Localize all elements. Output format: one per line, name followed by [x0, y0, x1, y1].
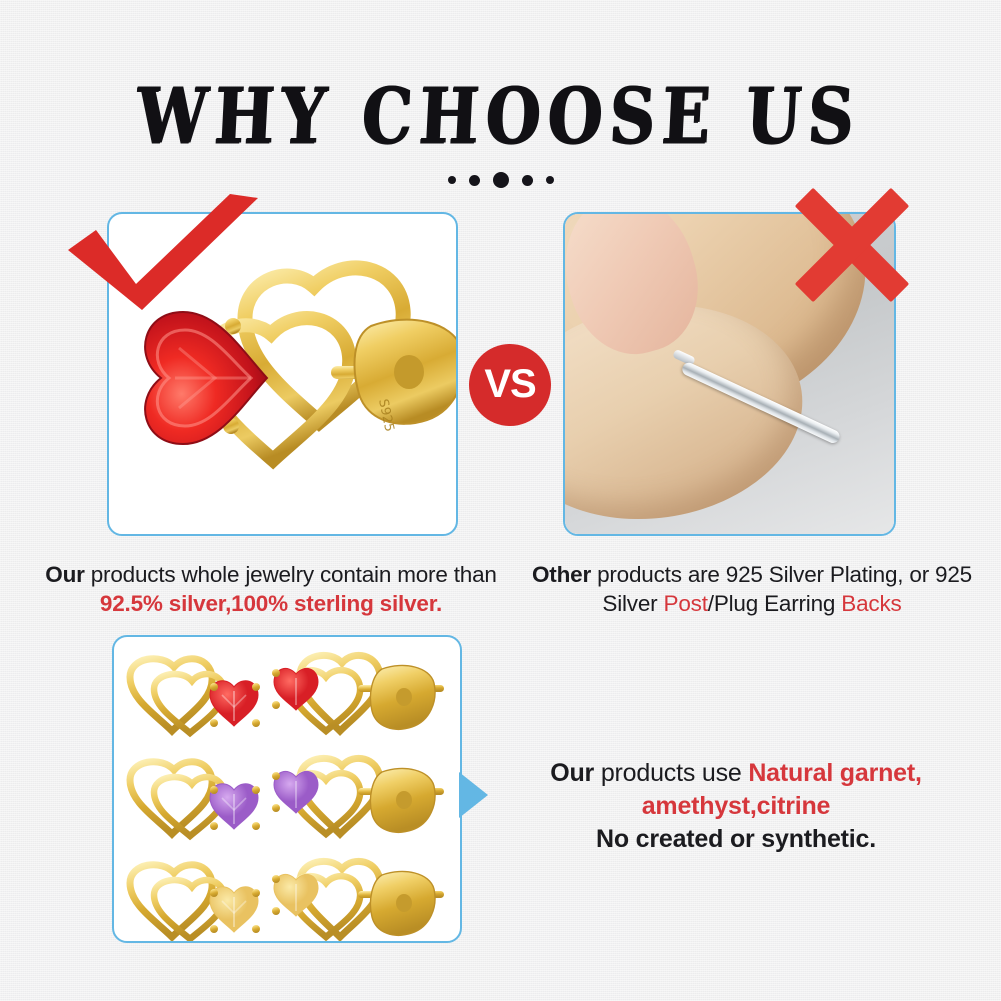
- gem-row-citrine: [122, 849, 458, 943]
- page-title: WHY CHOOSE US: [0, 78, 1001, 155]
- gemstone-caption: Our products use Natural garnet, amethys…: [486, 757, 986, 856]
- caption-lead: Our: [45, 562, 84, 587]
- earring-right-citrine: [272, 861, 444, 937]
- prong: [225, 318, 241, 334]
- earring-left-garnet: [130, 659, 260, 733]
- gem-row-amethyst: [122, 746, 458, 844]
- other-product-caption: Other products are 925 Silver Plating, o…: [513, 560, 991, 618]
- arrow-right-icon: [459, 772, 488, 818]
- caption-mid-2: /Plug Earring: [708, 591, 842, 616]
- gemstone-variants-card: [112, 635, 462, 943]
- title-block: WHY CHOOSE US: [0, 78, 1001, 188]
- caption-lead: Our: [550, 759, 594, 787]
- caption-tail: No created or synthetic.: [596, 825, 876, 853]
- caption-highlight-2: amethyst,citrine: [642, 792, 831, 820]
- vs-label: VS: [484, 362, 535, 407]
- gemstone-grid: [114, 637, 460, 941]
- earring-right-amethyst: [272, 758, 444, 834]
- caption-highlight-backs: Backs: [841, 591, 901, 616]
- caption-lead: Other: [532, 562, 591, 587]
- title-dot: [493, 172, 509, 188]
- caption-mid: products whole jewelry contain more than: [85, 562, 497, 587]
- earring-left-amethyst: [130, 762, 260, 836]
- title-dot: [546, 176, 554, 184]
- check-mark-icon: [62, 192, 262, 312]
- title-dot: [448, 176, 456, 184]
- gem-row: [122, 746, 458, 849]
- title-dot: [522, 175, 533, 186]
- gem-row: [122, 849, 458, 943]
- caption-mid: products use: [594, 759, 748, 787]
- our-product-caption: Our products whole jewelry contain more …: [36, 560, 506, 618]
- butterfly-back: S925: [355, 320, 458, 434]
- gem-row: [122, 643, 458, 746]
- title-dot: [469, 175, 480, 186]
- caption-highlight-1: Natural garnet,: [748, 759, 921, 787]
- caption-highlight: 92.5% silver,100% sterling silver.: [100, 591, 442, 616]
- gem-caption-line-1: Our products use Natural garnet,: [550, 759, 922, 787]
- caption-highlight-post: Post: [664, 591, 708, 616]
- vs-badge: VS: [469, 344, 551, 426]
- cross-mark-icon: [790, 186, 914, 304]
- earring-left-citrine: [130, 865, 260, 939]
- earring-right-garnet: [272, 655, 444, 731]
- gem-row-garnet: [122, 643, 458, 741]
